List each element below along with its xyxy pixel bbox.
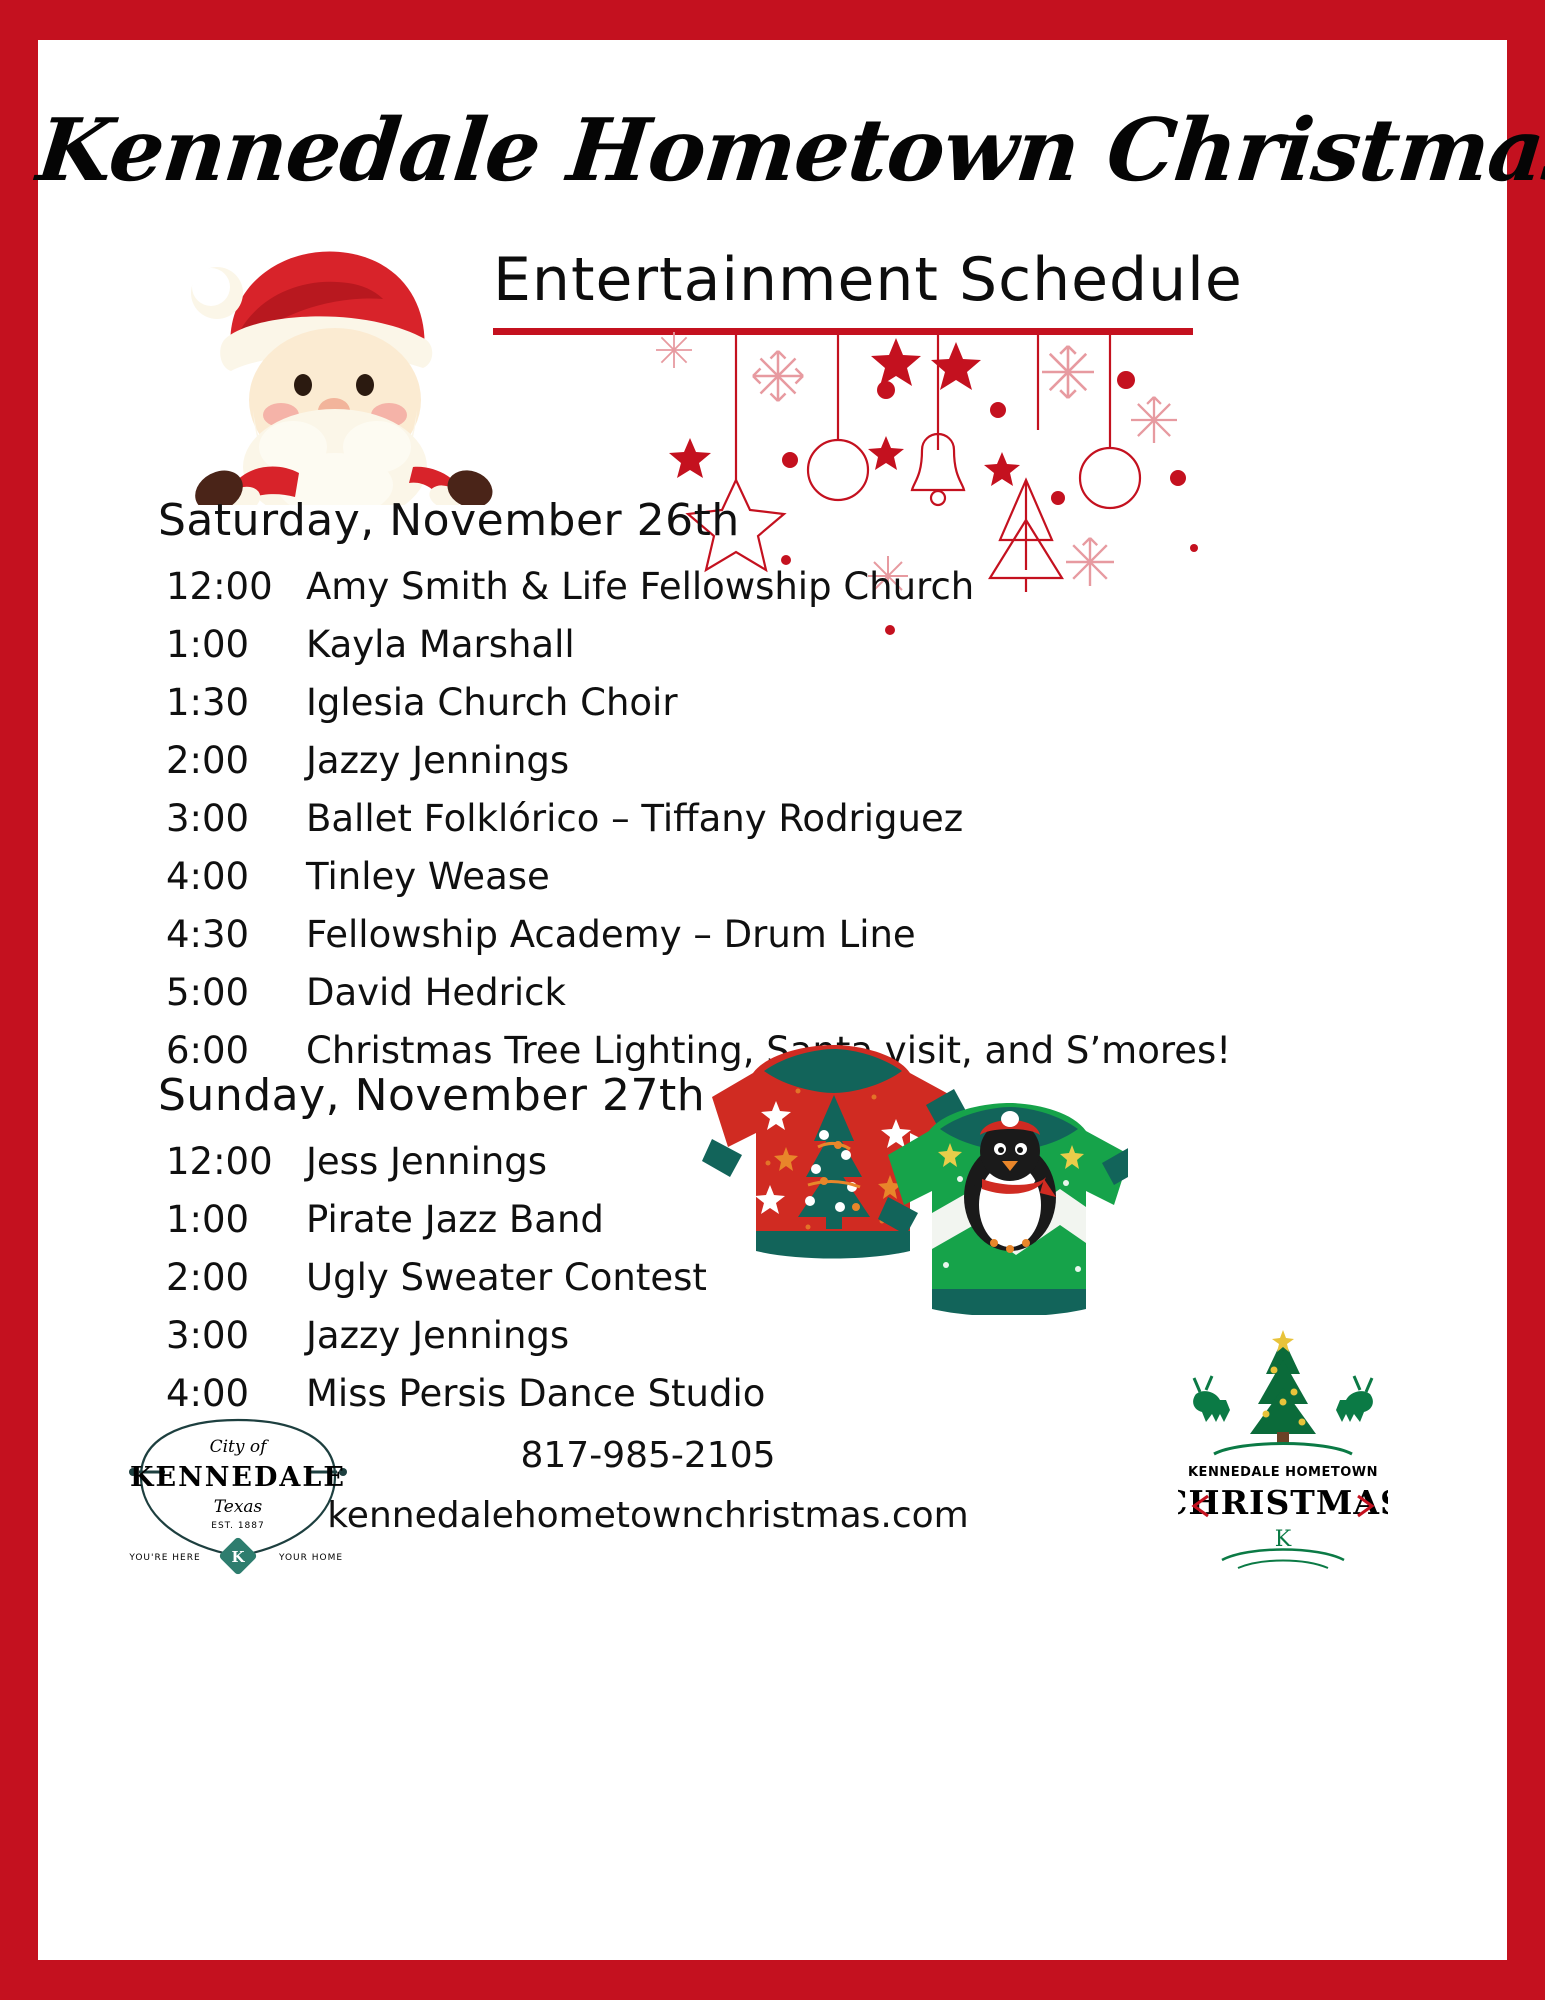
schedule-time: 4:00 — [166, 855, 306, 898]
santa-icon — [113, 235, 513, 505]
day-heading-saturday: Saturday, November 26th — [158, 495, 740, 546]
khc-logo-monogram: K — [1275, 1527, 1292, 1552]
schedule-row: 1:30 Iglesia Church Choir — [166, 681, 1231, 739]
schedule-row: 2:00 Jazzy Jennings — [166, 739, 1231, 797]
schedule-row: 4:30 Fellowship Academy – Drum Line — [166, 913, 1231, 971]
ugly-sweaters-icon — [658, 1035, 1128, 1315]
schedule-act: Tinley Wease — [306, 855, 1231, 898]
schedule-row: 1:00 Kayla Marshall — [166, 623, 1231, 681]
city-of-kennedale-logo: City of KENNEDALE Texas EST. 1887 YOU'RE… — [123, 1410, 353, 1580]
schedule-time: 3:00 — [166, 1314, 306, 1357]
page-title: Kennedale Hometown Christmas — [33, 100, 1513, 201]
schedule-row: 4:00 Tinley Wease — [166, 855, 1231, 913]
city-logo-state: Texas — [214, 1497, 263, 1517]
city-logo-tagline-right: YOUR HOME — [278, 1553, 343, 1563]
city-logo-name: KENNEDALE — [130, 1462, 346, 1493]
schedule-time: 1:30 — [166, 681, 306, 724]
city-logo-monogram: K — [231, 1548, 245, 1566]
khc-logo-main: CHRISTMAS — [1178, 1483, 1388, 1522]
schedule-time: 1:00 — [166, 1198, 306, 1241]
schedule-time: 2:00 — [166, 739, 306, 782]
schedule-time: 4:00 — [166, 1372, 306, 1415]
schedule-act: David Hedrick — [306, 971, 1231, 1014]
schedule-time: 3:00 — [166, 797, 306, 840]
schedule-row: 12:00 Amy Smith & Life Fellowship Church — [166, 565, 1231, 623]
schedule-time: 12:00 — [166, 1140, 306, 1183]
footer-phone[interactable]: 817-985-2105 — [368, 1435, 928, 1476]
flyer-page: Kennedale Hometown Christmas Entertainme… — [38, 40, 1507, 1960]
schedule-row: 3:00 Jazzy Jennings — [166, 1314, 765, 1372]
schedule-time: 4:30 — [166, 913, 306, 956]
khc-logo-top: KENNEDALE HOMETOWN — [1188, 1465, 1378, 1480]
footer-website[interactable]: kennedalehometownchristmas.com — [318, 1495, 978, 1536]
schedule-act: Miss Persis Dance Studio — [306, 1372, 765, 1415]
city-logo-script: City of — [210, 1437, 270, 1457]
schedule-row: 3:00 Ballet Folklórico – Tiffany Rodrigu… — [166, 797, 1231, 855]
schedule-act: Ballet Folklórico – Tiffany Rodriguez — [306, 797, 1231, 840]
page-subtitle: Entertainment Schedule — [493, 245, 1243, 315]
city-logo-tagline-left: YOU'RE HERE — [128, 1553, 200, 1563]
schedule-row: 5:00 David Hedrick — [166, 971, 1231, 1029]
schedule-act: Amy Smith & Life Fellowship Church — [306, 565, 1231, 608]
schedule-time: 12:00 — [166, 565, 306, 608]
schedule-act: Iglesia Church Choir — [306, 681, 1231, 724]
schedule-act: Kayla Marshall — [306, 623, 1231, 666]
schedule-time: 2:00 — [166, 1256, 306, 1299]
day-heading-sunday: Sunday, November 27th — [158, 1070, 705, 1121]
schedule-act: Jazzy Jennings — [306, 739, 1231, 782]
kennedale-hometown-christmas-logo: KENNEDALE HOMETOWN CHRISTMAS K — [1178, 1330, 1388, 1580]
city-logo-est: EST. 1887 — [211, 1521, 264, 1531]
schedule-time: 5:00 — [166, 971, 306, 1014]
schedule-time: 1:00 — [166, 623, 306, 666]
schedule-act: Fellowship Academy – Drum Line — [306, 913, 1231, 956]
schedule-time: 6:00 — [166, 1029, 306, 1072]
schedule-list-saturday: 12:00 Amy Smith & Life Fellowship Church… — [166, 565, 1231, 1087]
schedule-act: Jazzy Jennings — [306, 1314, 765, 1357]
